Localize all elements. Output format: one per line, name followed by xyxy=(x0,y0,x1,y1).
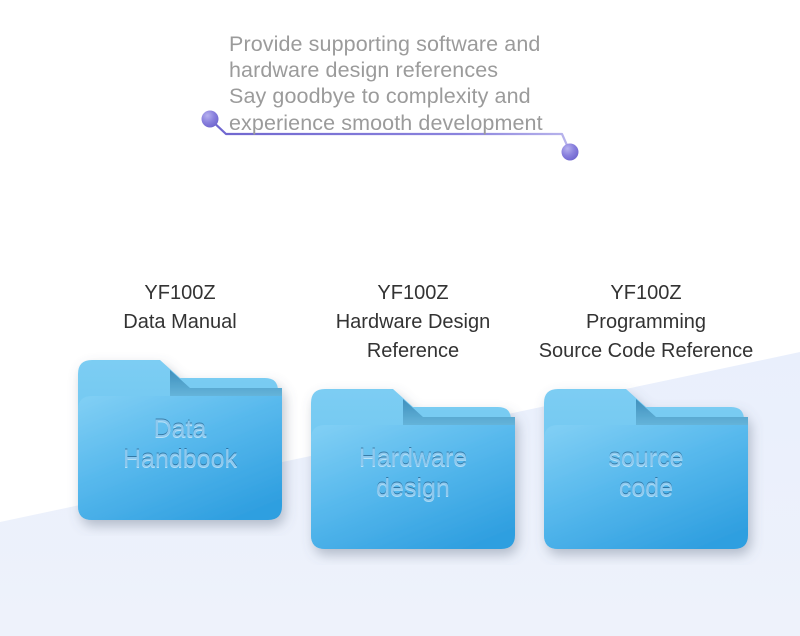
slide-canvas: Provide supporting software and hardware… xyxy=(0,0,800,636)
folder-caption-2-line-2: Programming xyxy=(528,308,764,337)
folder-label-1-line-1: Hardware xyxy=(295,443,531,473)
folder-caption-2-line-1: YF100Z xyxy=(528,279,764,308)
folder-icon-wrap-1[interactable]: Hardware design xyxy=(295,375,531,565)
folder-label-1: Hardware design xyxy=(295,443,531,503)
caption-line-3: Say goodbye to complexity and xyxy=(229,83,589,109)
folder-caption-1-line-2: Hardware Design xyxy=(295,308,531,337)
folder-caption-1-line-3: Reference xyxy=(295,337,531,366)
folder-icon-wrap-0[interactable]: Data Handbook xyxy=(62,346,298,536)
folder-label-0-line-1: Data xyxy=(62,414,298,444)
folder-caption-0-line-1: YF100Z xyxy=(62,279,298,308)
folder-icon-wrap-2[interactable]: source code xyxy=(528,375,764,565)
folder-caption-0-line-2: Data Manual xyxy=(62,308,298,337)
folder-label-1-line-2: design xyxy=(295,473,531,503)
caption-line-2: hardware design references xyxy=(229,57,589,83)
folder-label-0-line-2: Handbook xyxy=(62,444,298,474)
caption-line-1: Provide supporting software and xyxy=(229,31,589,57)
folder-item-data-manual[interactable]: YF100Z Data Manual xyxy=(62,279,298,536)
folder-item-hardware-design[interactable]: YF100Z Hardware Design Reference xyxy=(295,279,531,565)
folder-caption-1-line-1: YF100Z xyxy=(295,279,531,308)
headline-caption: Provide supporting software and hardware… xyxy=(229,31,589,136)
folder-caption-1: YF100Z Hardware Design Reference xyxy=(295,279,531,366)
folder-caption-0: YF100Z Data Manual xyxy=(62,279,298,337)
folder-caption-2-line-3: Source Code Reference xyxy=(528,337,764,366)
caption-line-4: experience smooth development xyxy=(229,110,589,136)
folder-caption-2: YF100Z Programming Source Code Reference xyxy=(528,279,764,366)
folder-label-0: Data Handbook xyxy=(62,414,298,474)
folder-label-2-line-2: code xyxy=(528,473,764,503)
folder-label-2: source code xyxy=(528,443,764,503)
folder-label-2-line-1: source xyxy=(528,443,764,473)
folder-item-source-code[interactable]: YF100Z Programming Source Code Reference xyxy=(528,279,764,565)
